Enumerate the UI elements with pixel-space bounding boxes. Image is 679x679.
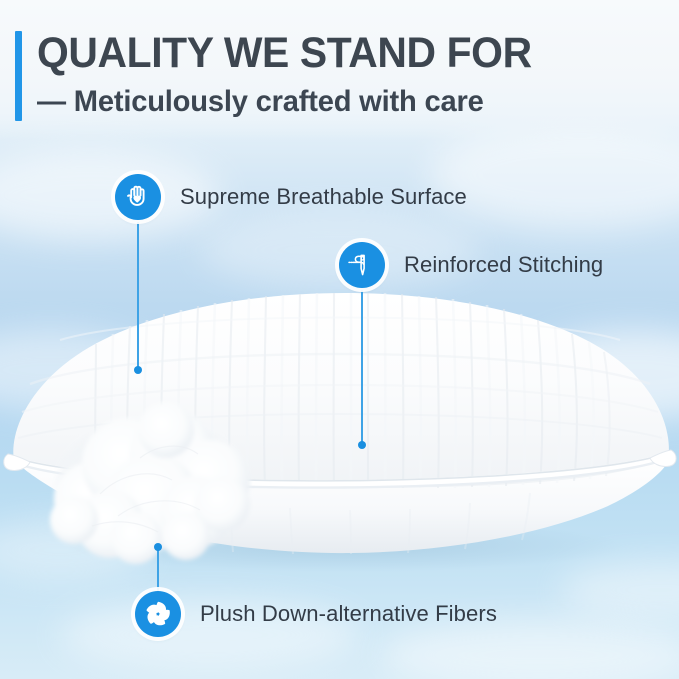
connector-dot-reinforced-stitching bbox=[358, 441, 366, 449]
connector-line-reinforced-stitching bbox=[361, 290, 363, 445]
feature-label-reinforced-stitching: Reinforced Stitching bbox=[404, 252, 603, 278]
feature-callout-breathable-surface[interactable]: Supreme Breathable Surface bbox=[115, 174, 473, 220]
feature-callout-reinforced-stitching[interactable]: Reinforced Stitching bbox=[339, 242, 607, 288]
connector-line-breathable-surface bbox=[137, 222, 139, 370]
feature-label-down-alternative-fibers: Plush Down-alternative Fibers bbox=[200, 601, 497, 627]
hand-heart-icon bbox=[115, 174, 161, 220]
connector-dot-down-alternative-fibers bbox=[154, 543, 162, 551]
header-accent-bar bbox=[15, 31, 22, 121]
feature-label-breathable-surface: Supreme Breathable Surface bbox=[180, 184, 467, 210]
fiber-swirl-icon bbox=[135, 591, 181, 637]
connector-line-down-alternative-fibers bbox=[157, 548, 159, 592]
page-subtitle: — Meticulously crafted with care bbox=[37, 84, 484, 120]
connector-dot-breathable-surface bbox=[134, 366, 142, 374]
page-title: QUALITY WE STAND FOR bbox=[37, 28, 532, 78]
feature-callout-down-alternative-fibers[interactable]: Plush Down-alternative Fibers bbox=[135, 591, 503, 637]
needle-thread-icon bbox=[339, 242, 385, 288]
product-image-pillow bbox=[0, 288, 679, 578]
infographic-canvas: QUALITY WE STAND FOR — Meticulously craf… bbox=[0, 0, 679, 679]
header-band: QUALITY WE STAND FOR — Meticulously craf… bbox=[0, 0, 679, 140]
